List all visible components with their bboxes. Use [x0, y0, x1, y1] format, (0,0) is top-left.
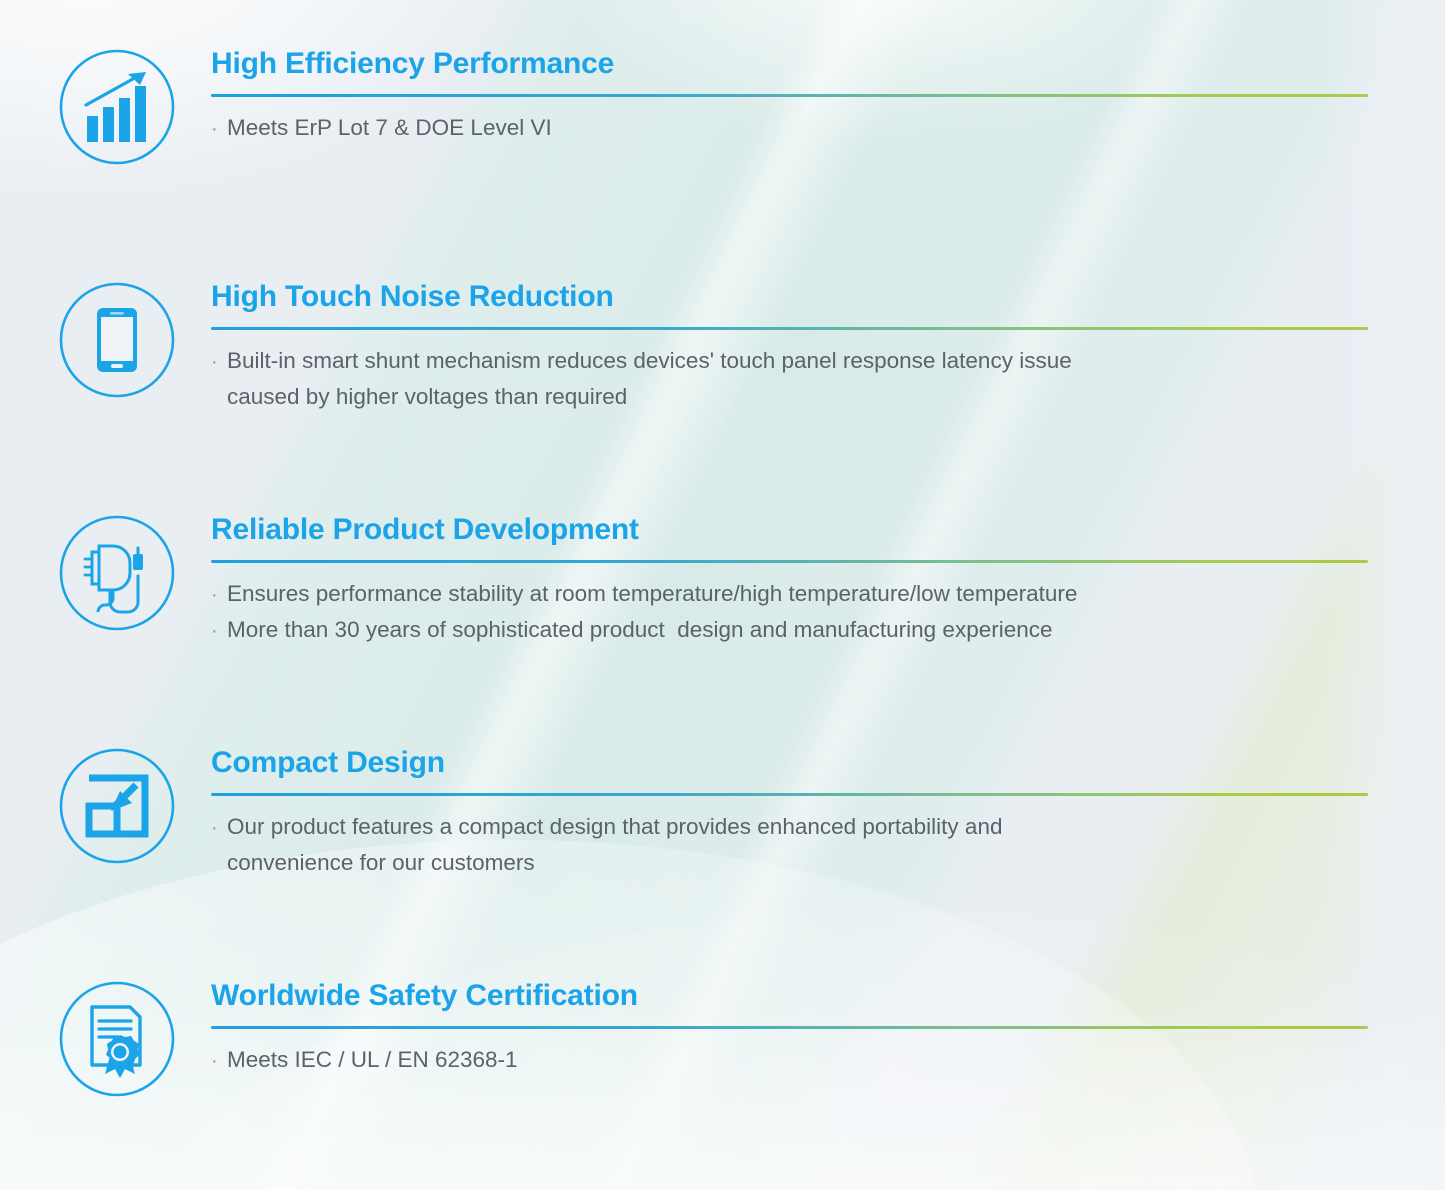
bullet-text: convenience for our customers	[227, 850, 535, 875]
feature-divider	[211, 560, 1368, 563]
feature-text-block: Compact Design ·Our product features a c…	[211, 747, 1368, 881]
certificate-award-icon	[58, 980, 176, 1098]
bullet-text: Meets IEC / UL / EN 62368-1	[227, 1047, 518, 1072]
feature-title: High Efficiency Performance	[211, 48, 1368, 80]
feature-description: ·Ensures performance stability at room t…	[211, 576, 1368, 649]
power-adapter-icon	[58, 514, 176, 632]
bullet-marker: ·	[211, 579, 227, 611]
feature-text-block: Reliable Product Development ·Ensures pe…	[211, 514, 1368, 648]
feature-bullet-line: convenience for our customers	[211, 845, 1368, 881]
feature-description: ·Meets IEC / UL / EN 62368-1	[211, 1042, 1368, 1078]
bullet-text: Our product features a compact design th…	[227, 814, 1002, 839]
feature-divider	[211, 94, 1368, 97]
feature-title: High Touch Noise Reduction	[211, 281, 1368, 313]
smartphone-icon	[58, 281, 176, 399]
feature-bullet-line: caused by higher voltages than required	[211, 379, 1368, 415]
feature-bullet-line: ·Meets ErP Lot 7 & DOE Level VI	[211, 110, 1368, 146]
feature-bullet-line: ·Built-in smart shunt mechanism reduces …	[211, 343, 1368, 379]
bar-chart-growth-icon	[58, 48, 176, 166]
feature-text-block: High Touch Noise Reduction ·Built-in sma…	[211, 281, 1368, 415]
feature-divider	[211, 793, 1368, 796]
feature-title: Compact Design	[211, 747, 1368, 779]
compact-resize-icon	[58, 747, 176, 865]
feature-bullet-line: ·Ensures performance stability at room t…	[211, 576, 1368, 612]
bullet-text: caused by higher voltages than required	[227, 384, 627, 409]
feature-title: Reliable Product Development	[211, 514, 1368, 546]
feature-description: ·Meets ErP Lot 7 & DOE Level VI	[211, 110, 1368, 146]
feature-divider	[211, 327, 1368, 330]
bullet-marker: ·	[211, 113, 227, 145]
bullet-marker: ·	[211, 1045, 227, 1077]
feature-text-block: Worldwide Safety Certification ·Meets IE…	[211, 980, 1368, 1078]
feature-divider	[211, 1026, 1368, 1029]
bullet-marker: ·	[211, 346, 227, 378]
bullet-text: Meets ErP Lot 7 & DOE Level VI	[227, 115, 552, 140]
feature-title: Worldwide Safety Certification	[211, 980, 1368, 1012]
feature-bullet-line: ·Meets IEC / UL / EN 62368-1	[211, 1042, 1368, 1078]
feature-text-block: High Efficiency Performance ·Meets ErP L…	[211, 48, 1368, 146]
feature-description: ·Our product features a compact design t…	[211, 809, 1368, 882]
bullet-text: Built-in smart shunt mechanism reduces d…	[227, 348, 1072, 373]
bullet-text: Ensures performance stability at room te…	[227, 581, 1077, 606]
bullet-marker: ·	[211, 812, 227, 844]
feature-bullet-line: ·Our product features a compact design t…	[211, 809, 1368, 845]
bullet-text: More than 30 years of sophisticated prod…	[227, 617, 1053, 642]
feature-highlights-page: High Efficiency Performance ·Meets ErP L…	[0, 0, 1445, 1190]
feature-description: ·Built-in smart shunt mechanism reduces …	[211, 343, 1368, 416]
bullet-marker: ·	[211, 615, 227, 647]
feature-bullet-line: ·More than 30 years of sophisticated pro…	[211, 612, 1368, 648]
